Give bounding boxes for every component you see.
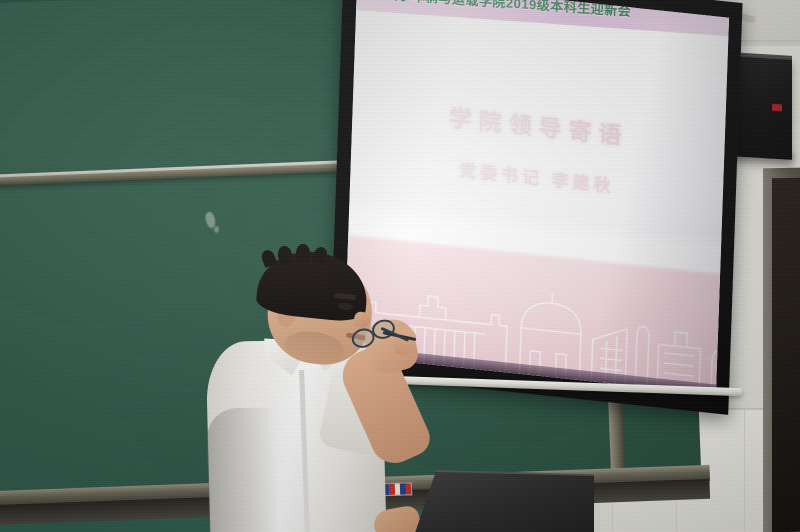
shirt-shadow — [206, 407, 279, 532]
lecture-hall-photo: 大学车辆与运载学院2019级本科生迎新会 学院领导寄语 党委书记 李建秋 — [0, 0, 800, 532]
slide-heading: 学院领导寄语 — [448, 99, 629, 152]
hair-spike — [296, 244, 311, 262]
wainscot-tile-seam — [744, 410, 745, 532]
speaker-led-indicator — [772, 104, 782, 112]
slide-subheading: 党委书记 李建秋 — [459, 156, 615, 197]
door-icon[interactable] — [772, 178, 800, 532]
presenter-person — [206, 258, 436, 532]
laptop-icon[interactable] — [414, 472, 594, 532]
chalk-smudge — [214, 226, 219, 233]
